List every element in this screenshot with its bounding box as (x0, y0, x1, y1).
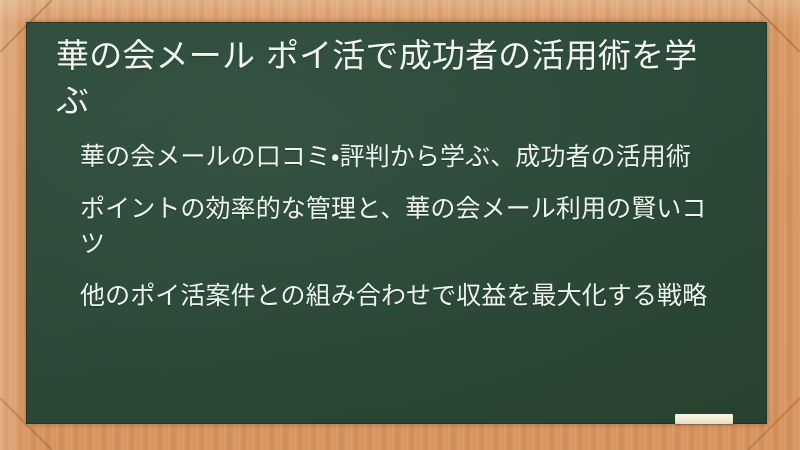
list-item: ポイントの効率的な管理と、華の会メール利用の賢いコツ (80, 192, 730, 261)
list-item: 他のポイ活案件との組み合わせで収益を最大化する戦略 (80, 279, 730, 314)
chalk-stick-icon (675, 414, 733, 424)
slide-title: 華の会メール ポイ活で成功者の活用術を学ぶ (56, 34, 716, 124)
slide-bullet-list: 華の会メールの口コミ・評判から学ぶ、成功者の活用術 ポイントの効率的な管理と、華… (56, 140, 743, 314)
blackboard-surface: 華の会メール ポイ活で成功者の活用術を学ぶ 華の会メールの口コミ・評判から学ぶ、… (26, 22, 767, 424)
blackboard-slide: 華の会メール ポイ活で成功者の活用術を学ぶ 華の会メールの口コミ・評判から学ぶ、… (0, 0, 800, 450)
blackboard-content: 華の会メール ポイ活で成功者の活用術を学ぶ 華の会メールの口コミ・評判から学ぶ、… (26, 22, 767, 424)
list-item: 華の会メールの口コミ・評判から学ぶ、成功者の活用術 (80, 140, 730, 175)
